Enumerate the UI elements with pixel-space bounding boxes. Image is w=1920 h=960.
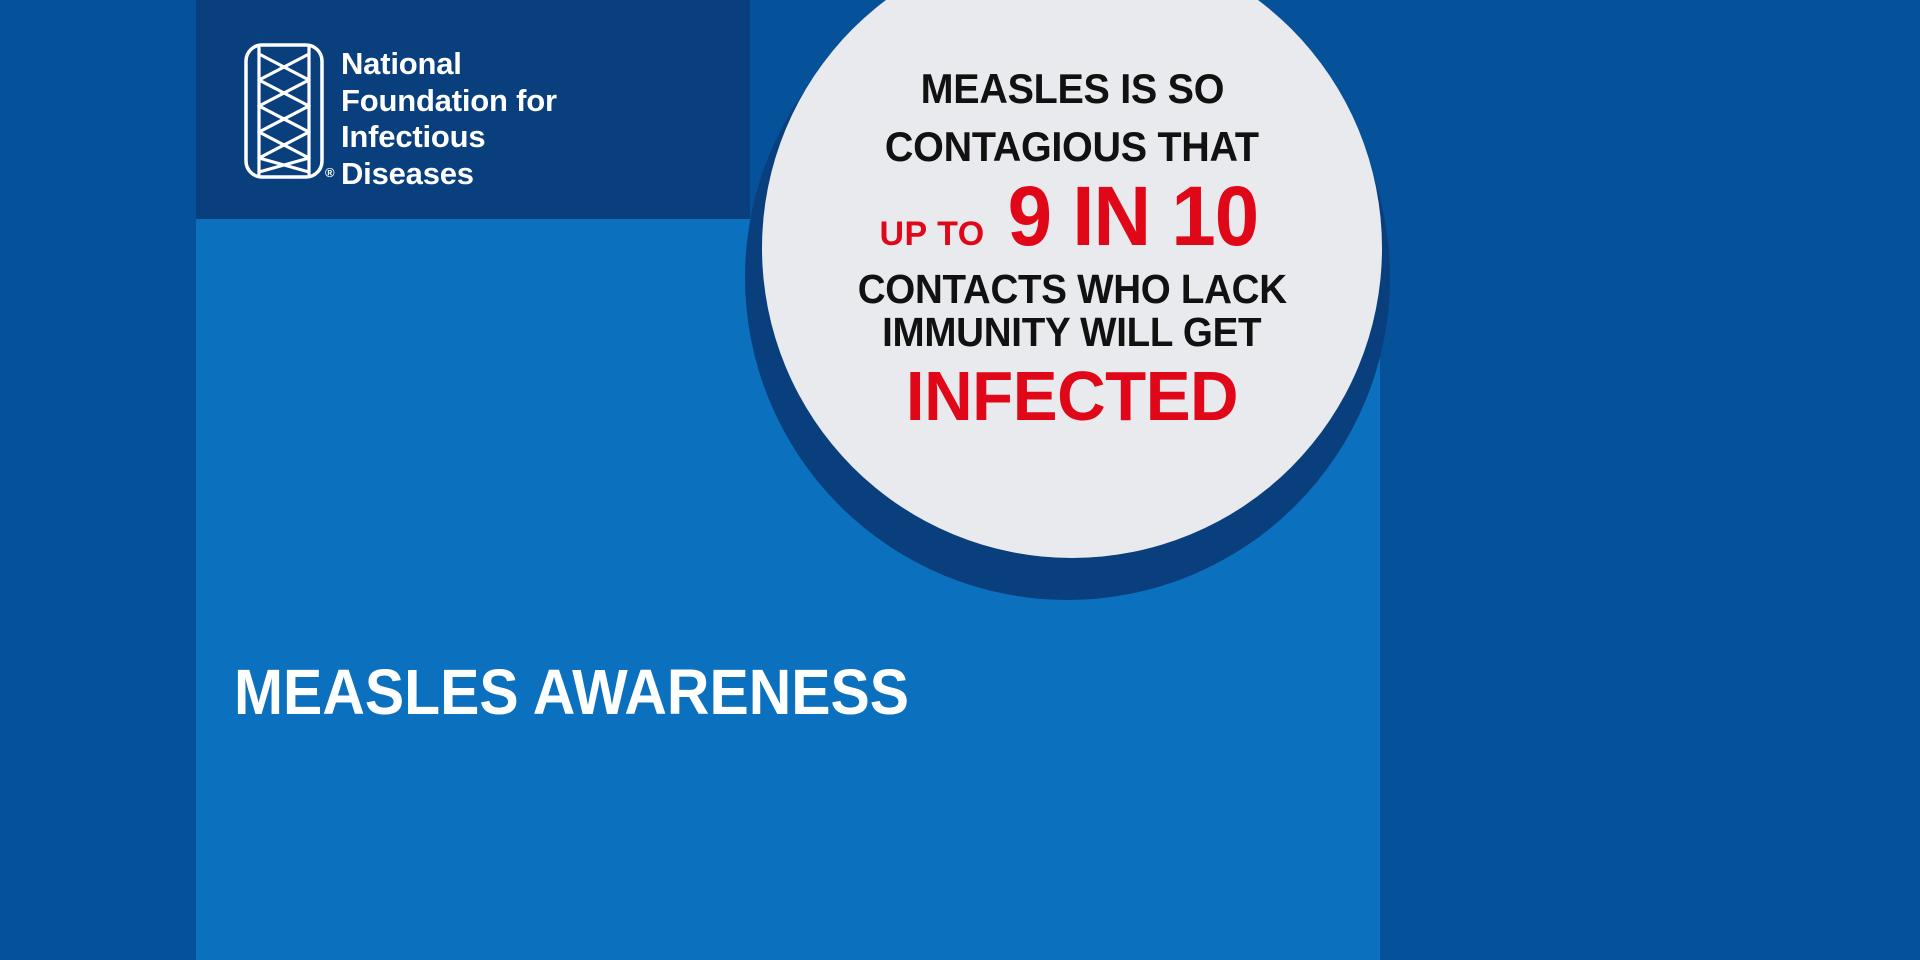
- logo-line-1: National: [341, 46, 557, 83]
- dna-helix-icon: ®: [243, 42, 325, 180]
- callout-body-line-2: IMMUNITY WILL GET: [882, 311, 1261, 354]
- nfid-logo: ® National Foundation for Infectious Dis…: [243, 42, 557, 188]
- callout-emphasis-word: INFECTED: [906, 361, 1238, 431]
- callout-headline-line-2: CONTAGIOUS THAT: [885, 126, 1259, 168]
- callout-circle-content: MEASLES IS SO CONTAGIOUS THAT UP TO 9 IN…: [762, 0, 1382, 558]
- logo-line-4: Diseases: [341, 156, 557, 193]
- registered-trademark-icon: ®: [325, 166, 335, 179]
- infographic-canvas: ® National Foundation for Infectious Dis…: [0, 0, 1920, 960]
- statistic-value: 9 IN 10: [1007, 174, 1258, 258]
- logo-line-2: Foundation for: [341, 83, 557, 120]
- callout-statistic: UP TO 9 IN 10: [880, 174, 1265, 258]
- callout-body-line-1: CONTACTS WHO LACK: [857, 268, 1286, 311]
- logo-line-3: Infectious: [341, 119, 557, 156]
- nfid-logo-text: National Foundation for Infectious Disea…: [341, 46, 557, 192]
- statistic-prefix: UP TO: [880, 217, 985, 251]
- callout-headline-line-1: MEASLES IS SO: [920, 68, 1223, 110]
- banner-title: MEASLES AWARENESS: [234, 660, 909, 724]
